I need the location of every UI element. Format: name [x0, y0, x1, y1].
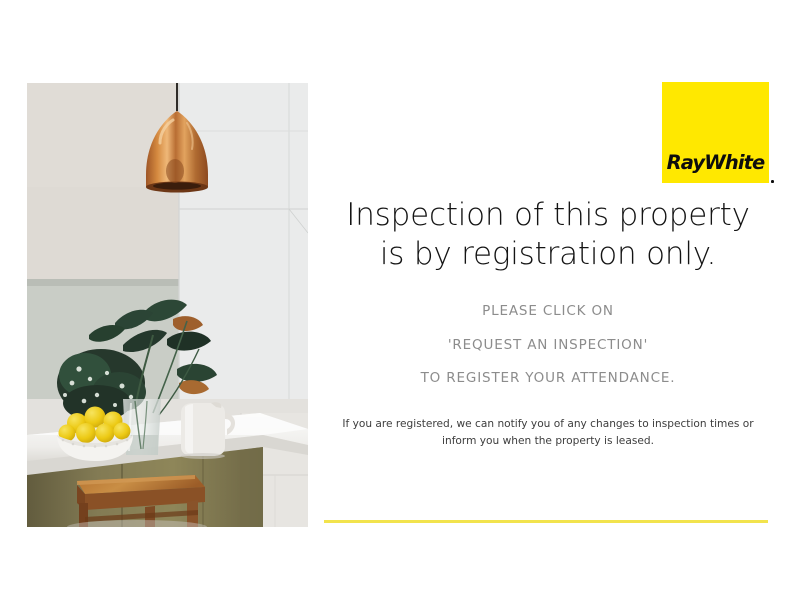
ray-white-wordmark: RayWhite — [667, 153, 765, 173]
instruction-line-1: PLEASE CLICK ON — [318, 305, 778, 319]
instruction-line-3: TO REGISTER YOUR ATTENDANCE. — [318, 372, 778, 386]
headline-line-2: is by registration only. — [318, 235, 778, 274]
fineprint-line-1: If you are registered, we can notify you… — [326, 416, 770, 433]
page-title: Inspection of this property is by regist… — [318, 196, 778, 274]
headline-line-1: Inspection of this property — [318, 196, 778, 235]
fineprint-line-2: inform you when the property is leased. — [326, 433, 770, 450]
instruction-block: PLEASE CLICK ON 'REQUEST AN INSPECTION' … — [318, 305, 778, 386]
yellow-divider — [324, 520, 768, 523]
fineprint-note: If you are registered, we can notify you… — [318, 416, 778, 450]
message-column: Inspection of this property is by regist… — [318, 196, 778, 450]
ray-white-logo: RayWhite — [662, 82, 769, 183]
property-photo — [27, 83, 308, 527]
trademark-dot-icon — [771, 180, 774, 183]
property-photo-illustration — [27, 83, 308, 527]
instruction-line-2: 'REQUEST AN INSPECTION' — [318, 339, 778, 353]
